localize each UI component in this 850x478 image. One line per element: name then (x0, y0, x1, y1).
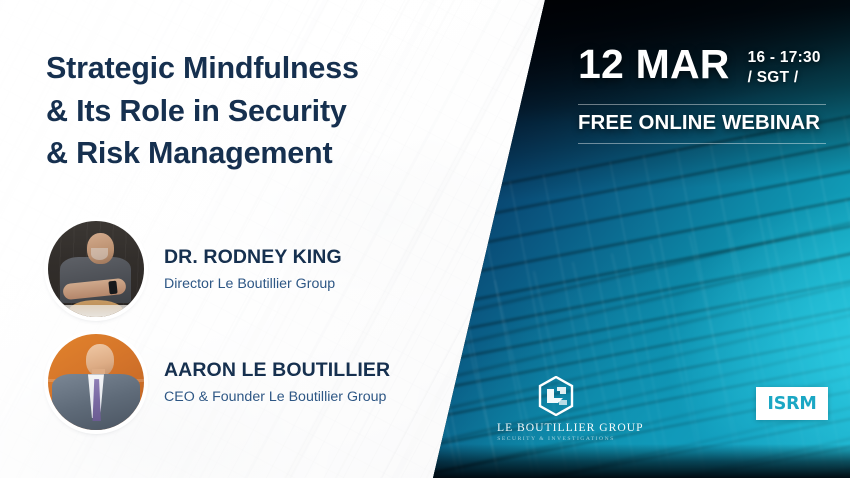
event-time: 16 - 17:30 (748, 48, 821, 68)
lb-hexagon-cube-icon (538, 376, 574, 416)
title-line-2: & Its Role in Security (46, 90, 466, 133)
webinar-promo-poster: Strategic Mindfulness & Its Role in Secu… (0, 0, 850, 478)
avatar (48, 334, 144, 430)
divider-top (578, 104, 826, 105)
speaker-rodney-king: DR. RODNEY KING Director Le Boutillier G… (48, 221, 342, 317)
company-name: LE BOUTILLIER GROUP (497, 421, 615, 434)
speaker-role: Director Le Boutillier Group (164, 276, 342, 292)
speaker-name: DR. RODNEY KING (164, 246, 342, 269)
event-type-label: FREE ONLINE WEBINAR (578, 112, 826, 135)
event-time-block: 16 - 17:30 / SGT / (748, 44, 821, 89)
event-date-block: 12 MAR 16 - 17:30 / SGT / (578, 44, 821, 89)
speaker-name: AARON LE BOUTILLIER (164, 359, 390, 382)
speaker-text: AARON LE BOUTILLIER CEO & Founder Le Bou… (164, 359, 390, 405)
avatar (48, 221, 144, 317)
speaker-aaron-le-boutillier: AARON LE BOUTILLIER CEO & Founder Le Bou… (48, 334, 390, 430)
title-line-3: & Risk Management (46, 132, 466, 175)
event-timezone: / SGT / (748, 68, 821, 88)
company-tagline: SECURITY & INVESTIGATIONS (497, 436, 615, 442)
divider-bottom (578, 143, 826, 144)
event-date: 12 MAR (578, 44, 730, 85)
page-title: Strategic Mindfulness & Its Role in Secu… (46, 47, 466, 175)
title-line-1: Strategic Mindfulness (46, 47, 466, 90)
le-boutillier-group-logo: LE BOUTILLIER GROUP SECURITY & INVESTIGA… (497, 376, 615, 442)
speaker-role: CEO & Founder Le Boutillier Group (164, 389, 390, 405)
isrm-logo-text: ISRM (767, 394, 816, 414)
isrm-logo-badge: ISRM (756, 387, 828, 420)
speaker-text: DR. RODNEY KING Director Le Boutillier G… (164, 246, 342, 292)
rodney-king-portrait-icon (48, 221, 144, 317)
aaron-le-boutillier-portrait-icon (48, 334, 144, 430)
